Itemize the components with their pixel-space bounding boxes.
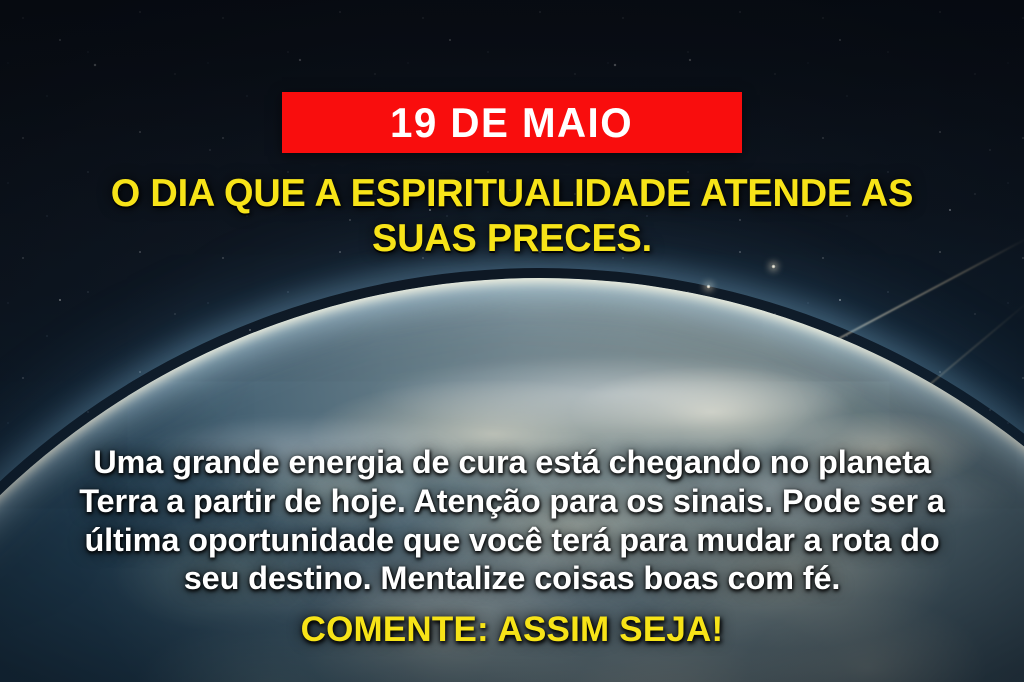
date-badge: 19 DE MAIO bbox=[282, 92, 742, 153]
call-to-action-text: COMENTE: ASSIM SEJA! bbox=[52, 612, 972, 647]
page-title: O DIA QUE A ESPIRITUALIDADE ATENDE AS SU… bbox=[79, 172, 946, 261]
date-badge-label: 19 DE MAIO bbox=[391, 102, 634, 144]
poster-canvas: 19 DE MAIO O DIA QUE A ESPIRITUALIDADE A… bbox=[0, 0, 1024, 685]
body-paragraph: Uma grande energia de cura está chegando… bbox=[67, 443, 957, 598]
